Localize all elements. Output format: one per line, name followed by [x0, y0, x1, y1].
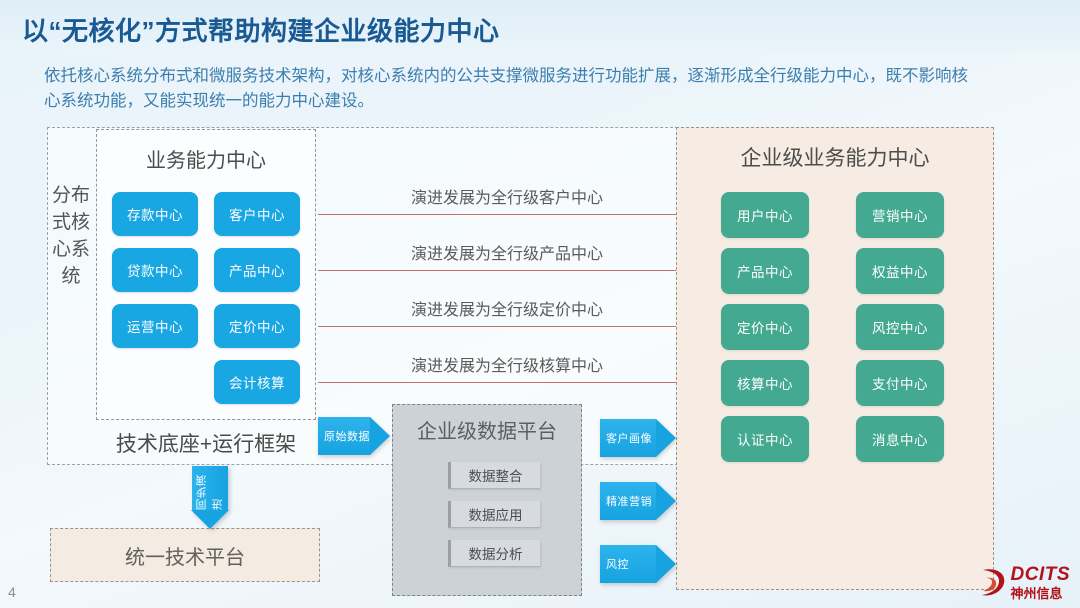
enterprise-card-accounting[interactable]: 核算中心 [721, 360, 809, 406]
evolution-arrow-accounting-line [318, 382, 696, 383]
enterprise-card-product[interactable]: 产品中心 [721, 248, 809, 294]
dcits-swirl-icon [977, 566, 1007, 600]
risk-control-arrow: 风控 [600, 545, 656, 583]
core-card-loan[interactable]: 贷款中心 [112, 248, 198, 292]
brand-name: DCITS [1011, 565, 1071, 584]
evolution-arrow-pricing-line [318, 326, 696, 327]
raw-data-arrow: 原始数据 [318, 417, 370, 455]
enterprise-card-risk-control[interactable]: 风控中心 [856, 304, 944, 350]
core-card-operation[interactable]: 运营中心 [112, 304, 198, 348]
evolution-arrow-pricing: 演进发展为全行级定价中心 [318, 326, 696, 327]
unified-tech-platform-box: 统一技术平台 [50, 528, 320, 582]
evolution-arrow-accounting: 演进发展为全行级核算中心 [318, 382, 696, 383]
evolution-arrow-product-line [318, 270, 696, 271]
evolution-arrow-product: 演进发展为全行级产品中心 [318, 270, 696, 271]
core-card-pricing[interactable]: 定价中心 [214, 304, 300, 348]
data-item-integration[interactable]: 数据整合 [448, 462, 540, 489]
enterprise-card-payment[interactable]: 支付中心 [856, 360, 944, 406]
evolution-arrow-customer: 演进发展为全行级客户中心 [318, 214, 696, 215]
core-card-deposit[interactable]: 存款中心 [112, 192, 198, 236]
core-card-customer[interactable]: 客户中心 [214, 192, 300, 236]
brand-logo: DCITS 神州信息 [977, 565, 1071, 600]
evolution-arrow-customer-line [318, 214, 696, 215]
brand-logo-text: DCITS 神州信息 [1011, 565, 1071, 600]
business-capability-center-title: 业务能力中心 [96, 144, 316, 173]
precision-marketing-arrow: 精准营销 [600, 482, 656, 520]
data-platform-title: 企业级数据平台 [392, 415, 582, 444]
core-card-accounting[interactable]: 会计核算 [214, 360, 300, 404]
enterprise-capability-center-title: 企业级业务能力中心 [676, 142, 994, 172]
data-item-analysis[interactable]: 数据分析 [448, 540, 540, 567]
distributed-core-system-label: 分布式核心系统 [52, 182, 90, 290]
customer-portrait-arrow-label: 客户画像 [600, 430, 652, 446]
risk-control-arrow-label: 风控 [600, 556, 629, 572]
sync-evolution-arrow-label: 同步演进 [192, 466, 228, 510]
tech-base-runtime-framework: 技术底座+运行框架 [96, 421, 316, 465]
core-card-product[interactable]: 产品中心 [214, 248, 300, 292]
evolution-arrow-customer-label: 演进发展为全行级客户中心 [318, 184, 696, 208]
evolution-arrow-pricing-label: 演进发展为全行级定价中心 [318, 296, 696, 320]
raw-data-arrow-label: 原始数据 [318, 428, 370, 444]
customer-portrait-arrow: 客户画像 [600, 419, 656, 457]
page-subtitle: 依托核心系统分布式和微服务技术架构，对核心系统内的公共支撑微服务进行功能扩展，逐… [44, 64, 984, 114]
enterprise-card-message[interactable]: 消息中心 [856, 416, 944, 462]
page-number: 4 [8, 584, 16, 600]
data-item-application[interactable]: 数据应用 [448, 501, 540, 528]
page-title: 以“无核化”方式帮助构建企业级能力中心 [22, 11, 500, 48]
brand-subname: 神州信息 [1011, 587, 1071, 600]
sync-evolution-down-arrow: 同步演进 [192, 466, 228, 510]
evolution-arrow-accounting-label: 演进发展为全行级核算中心 [318, 352, 696, 376]
enterprise-card-authentication[interactable]: 认证中心 [721, 416, 809, 462]
precision-marketing-arrow-label: 精准营销 [600, 493, 652, 509]
enterprise-card-rights[interactable]: 权益中心 [856, 248, 944, 294]
enterprise-card-marketing[interactable]: 营销中心 [856, 192, 944, 238]
enterprise-card-user[interactable]: 用户中心 [721, 192, 809, 238]
evolution-arrow-product-label: 演进发展为全行级产品中心 [318, 240, 696, 264]
enterprise-card-pricing[interactable]: 定价中心 [721, 304, 809, 350]
